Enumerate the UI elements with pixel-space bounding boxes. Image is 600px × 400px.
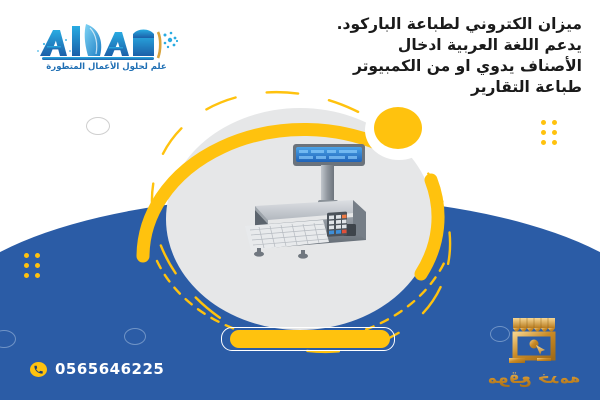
dot-grid-left (24, 253, 40, 278)
decor-dot (24, 273, 29, 278)
brand-tagline: علم لحلول الأعمال المتطورة (34, 62, 179, 72)
decor-dot (552, 140, 557, 145)
decor-dot (541, 140, 546, 145)
brand-logo: علم لحلول الأعمال المتطورة (34, 18, 179, 80)
poster-canvas: علم لحلول الأعمال المتطورة ميزان الكترون… (0, 0, 600, 400)
contact-phone-row[interactable]: 0565646225 (30, 360, 164, 378)
decor-dot (35, 273, 40, 278)
decor-dot (541, 120, 546, 125)
headline-line-1: ميزان الكتروني لطباعة الباركود. (282, 14, 582, 35)
circle-outline-decoration (86, 117, 110, 135)
decor-dot (24, 263, 29, 268)
headline-line-3: الأصناف يدوي او من الكمبيوتر (282, 56, 582, 77)
store-logo-text: موقع خدمه (478, 368, 590, 388)
circle-outline-decoration (124, 328, 146, 345)
headline-text-block: ميزان الكتروني لطباعة الباركود. يدعم الل… (282, 14, 582, 98)
decor-dot (24, 253, 29, 258)
dot-grid-right (541, 120, 557, 145)
phone-number: 0565646225 (55, 360, 164, 378)
alam-wordmark-icon (34, 18, 179, 62)
headline-line-2: يدعم اللغة العربية ادخال (282, 35, 582, 56)
headline-line-4: طباعة التقارير (282, 77, 582, 98)
yellow-pill-banner (221, 327, 395, 351)
decor-dot (35, 253, 40, 258)
phone-icon (30, 362, 47, 377)
storefront-icon (503, 314, 565, 366)
yellow-pill-fill (230, 330, 390, 348)
decor-dot (35, 263, 40, 268)
product-scale-image (225, 138, 385, 268)
decor-dot (552, 130, 557, 135)
decor-dot (552, 120, 557, 125)
decor-dot (541, 130, 546, 135)
store-partner-logo: موقع خدمه (478, 314, 590, 396)
